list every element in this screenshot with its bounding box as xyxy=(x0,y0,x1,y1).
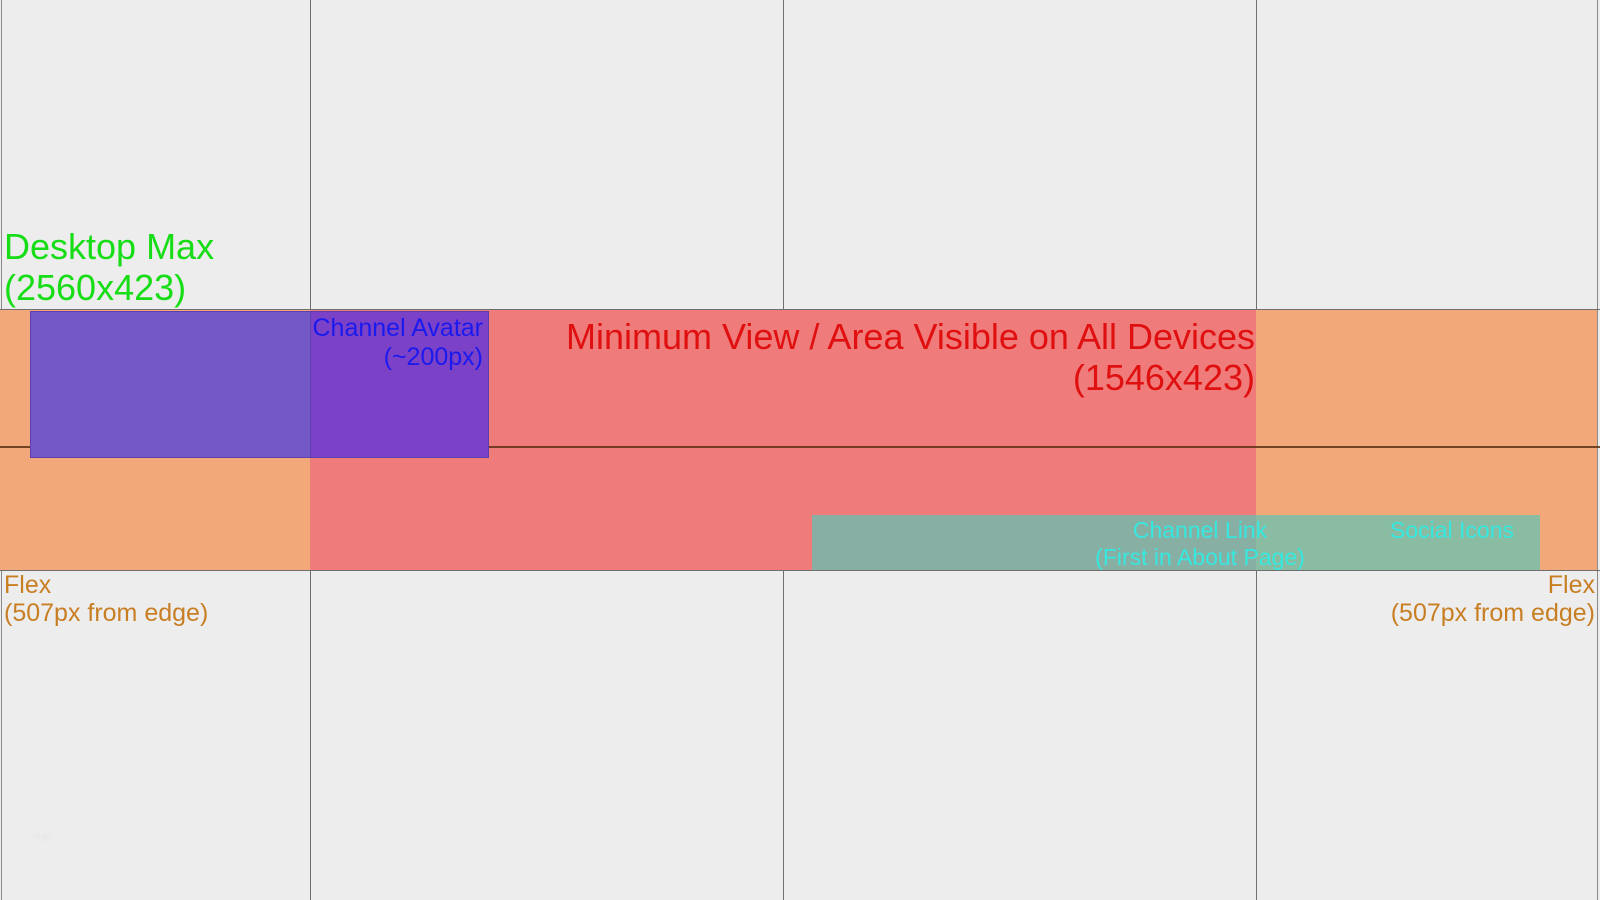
guide-line-vertical-right xyxy=(1597,0,1598,900)
social-icons-label: Social Icons xyxy=(1390,517,1590,544)
flex-left-label: Flex (507px from edge) xyxy=(4,571,364,627)
watermark-label: logo xyxy=(33,831,52,841)
channel-avatar-label: Channel Avatar (~200px) xyxy=(245,314,483,372)
channel-banner-template-guide: Channel Avatar (~200px) Channel Link (Fi… xyxy=(0,0,1600,900)
desktop-max-label: Desktop Max (2560x423) xyxy=(4,226,404,308)
minimum-view-label: Minimum View / Area Visible on All Devic… xyxy=(455,316,1255,398)
channel-link-label: Channel Link (First in About Page) xyxy=(1080,517,1320,571)
flex-right-label: Flex (507px from edge) xyxy=(1230,571,1595,627)
